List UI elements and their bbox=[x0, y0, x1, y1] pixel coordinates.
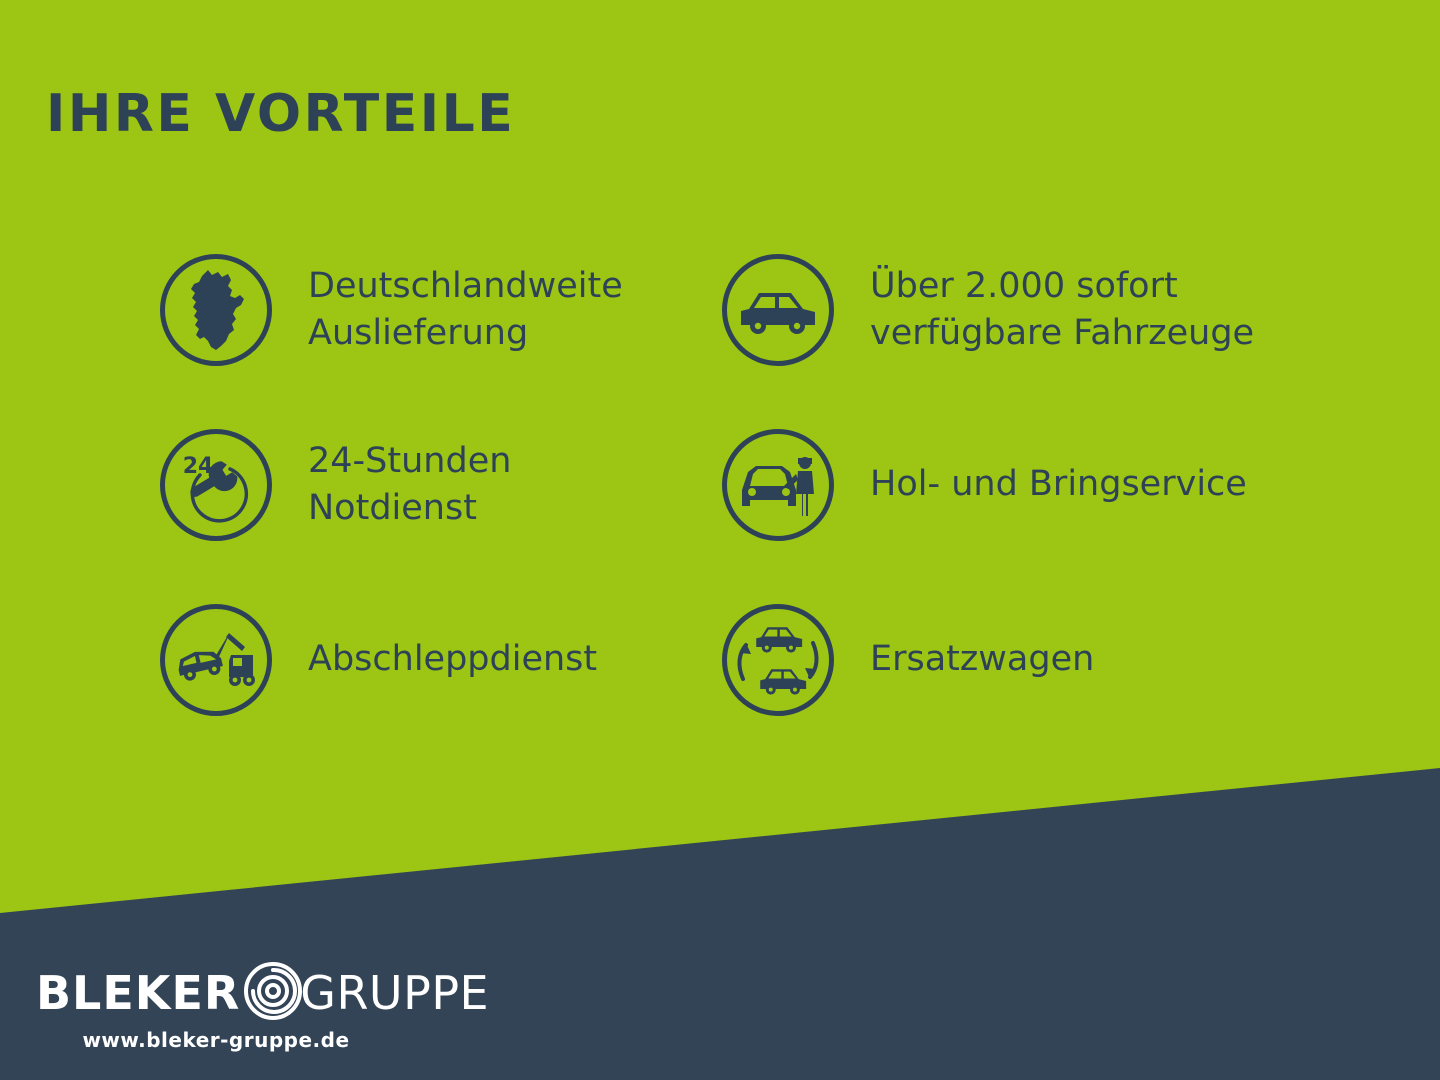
truck-glyph bbox=[229, 655, 255, 686]
footer-logo-block: BLEKER GRUPPE www.bleker-gruppe.de bbox=[36, 964, 456, 1052]
slide: IHRE VORTEILE Deutschlandweite Ausliefer… bbox=[0, 0, 1440, 1080]
benefit-label: Hol- und Bringservice bbox=[870, 461, 1247, 507]
logo-url: www.bleker-gruppe.de bbox=[36, 1028, 396, 1052]
car-exchange-icon bbox=[722, 604, 834, 716]
benefit-item: 24 24-Stunden Notdienst bbox=[160, 397, 720, 572]
person-glyph bbox=[784, 457, 814, 516]
car-side-icon bbox=[722, 254, 834, 366]
benefit-item: Über 2.000 sofort verfügbare Fahrzeuge bbox=[722, 222, 1362, 397]
logo-row: BLEKER GRUPPE bbox=[36, 964, 456, 1022]
page-title: IHRE VORTEILE bbox=[46, 88, 515, 140]
germany-map-icon bbox=[160, 254, 272, 366]
benefit-label: Ersatzwagen bbox=[870, 636, 1094, 682]
benefit-item: Abschleppdienst bbox=[160, 572, 720, 747]
towed-car-glyph bbox=[176, 646, 225, 682]
benefit-item: Deutschlandweite Auslieferung bbox=[160, 222, 720, 397]
24-hour-wrench-icon: 24 bbox=[160, 429, 272, 541]
benefit-label: 24-Stunden Notdienst bbox=[308, 438, 511, 530]
car-bottom-glyph bbox=[760, 669, 806, 694]
logo-primary-text: BLEKER bbox=[36, 970, 240, 1016]
car-with-person-icon bbox=[722, 429, 834, 541]
benefit-label: Deutschlandweite Auslieferung bbox=[308, 263, 623, 355]
car-top-glyph bbox=[756, 627, 802, 652]
tow-truck-icon bbox=[160, 604, 272, 716]
benefits-right-column: Über 2.000 sofort verfügbare Fahrzeuge bbox=[722, 222, 1362, 747]
benefit-label: Abschleppdienst bbox=[308, 636, 597, 682]
benefit-item: Ersatzwagen bbox=[722, 572, 1362, 747]
logo-secondary-text: GRUPPE bbox=[300, 970, 489, 1016]
benefit-item: Hol- und Bringservice bbox=[722, 397, 1362, 572]
spiral-circles-icon bbox=[242, 960, 304, 1026]
benefits-left-column: Deutschlandweite Auslieferung 24 24-Stun… bbox=[160, 222, 720, 747]
benefit-label: Über 2.000 sofort verfügbare Fahrzeuge bbox=[870, 263, 1254, 355]
